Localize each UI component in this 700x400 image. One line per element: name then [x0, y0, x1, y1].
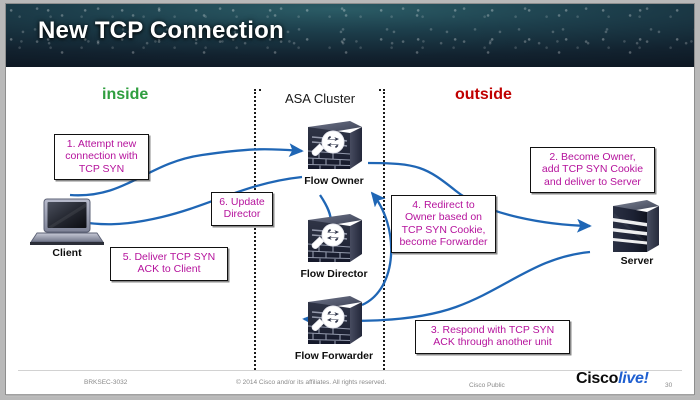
diagram-canvas: inside outside ASA Cluster ASA Cluster	[6, 67, 694, 370]
callout-step-1-line-2: connection with	[59, 150, 144, 162]
asa-firewall-icon	[300, 117, 368, 175]
callout-step-2-line-2: add TCP SYN Cookie	[535, 163, 650, 175]
asa-firewall-icon	[300, 292, 368, 350]
live-wordmark: live!	[618, 370, 649, 387]
footer-page-number: 30	[665, 382, 672, 389]
node-label-flow-owner: Flow Owner	[269, 175, 399, 187]
node-client[interactable]: Client	[28, 197, 106, 259]
callout-step-3[interactable]: 3. Respond with TCP SYN ACK through anot…	[415, 320, 570, 354]
node-label-flow-forwarder: Flow Forwarder	[269, 350, 399, 362]
footer-classification: Cisco Public	[469, 382, 505, 389]
callout-step-1-line-1: 1. Attempt new	[59, 138, 144, 150]
laptop-icon	[28, 197, 106, 247]
callout-step-1-line-3: TCP SYN	[59, 163, 144, 175]
callout-step-4-line-4: become Forwarder	[396, 236, 491, 248]
server-icon	[609, 197, 665, 255]
node-server[interactable]: Server	[609, 197, 665, 265]
node-flow-director[interactable]: Flow Director	[300, 210, 368, 282]
node-flow-forwarder[interactable]: Flow Forwarder	[300, 292, 368, 364]
asa-firewall-icon	[300, 210, 368, 268]
slide-frame: New TCP Connection inside outside ASA Cl…	[6, 4, 694, 394]
callout-step-3-line-1: 3. Respond with TCP SYN	[420, 324, 565, 336]
node-label-server: Server	[572, 255, 700, 267]
cisco-wordmark: Cisco	[576, 370, 618, 387]
callout-step-5[interactable]: 5. Deliver TCP SYN ACK to Client	[110, 247, 228, 281]
callout-step-4-line-1: 4. Redirect to	[396, 199, 491, 211]
callout-step-2-line-1: 2. Become Owner,	[535, 151, 650, 163]
callout-step-6-line-2: Director	[216, 208, 268, 220]
callout-step-2-line-3: and deliver to Server	[535, 176, 650, 188]
node-flow-owner[interactable]: Flow Owner	[300, 117, 368, 189]
callout-step-4[interactable]: 4. Redirect to Owner based on TCP SYN Co…	[391, 195, 496, 253]
callout-step-1[interactable]: 1. Attempt new connection with TCP SYN	[54, 134, 149, 180]
slide-footer: BRKSEC-3032 © 2014 Cisco and/or its affi…	[6, 370, 694, 394]
callout-step-6[interactable]: 6. Update Director	[211, 192, 273, 226]
slide: New TCP Connection inside outside ASA Cl…	[0, 0, 700, 400]
node-label-flow-director: Flow Director	[269, 268, 399, 280]
callout-step-5-line-1: 5. Deliver TCP SYN	[115, 251, 223, 263]
slide-bottom-shadow	[6, 394, 694, 397]
footer-copyright: © 2014 Cisco and/or its affiliates. All …	[236, 379, 386, 386]
callout-step-4-line-2: Owner based on	[396, 211, 491, 223]
cisco-live-logo: Ciscolive!	[576, 370, 649, 388]
callout-step-6-line-1: 6. Update	[216, 196, 268, 208]
page-title: New TCP Connection	[38, 17, 284, 45]
footer-session-code: BRKSEC-3032	[84, 379, 127, 386]
callout-step-3-line-2: ACK through another unit	[420, 336, 565, 348]
callout-step-5-line-2: ACK to Client	[115, 263, 223, 275]
callout-step-2[interactable]: 2. Become Owner, add TCP SYN Cookie and …	[530, 147, 655, 193]
callout-step-4-line-3: TCP SYN Cookie,	[396, 224, 491, 236]
slide-header: New TCP Connection	[6, 4, 694, 67]
